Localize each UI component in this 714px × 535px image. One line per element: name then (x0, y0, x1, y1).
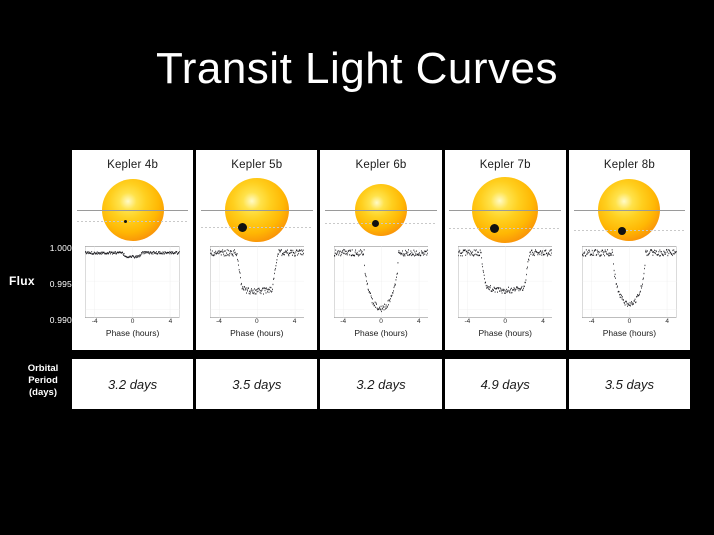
panel-title: Kepler 4b (72, 159, 193, 171)
phase-tick: 0 (628, 318, 632, 325)
star-transit-diagram (445, 177, 566, 243)
phase-axis-ticks: -404 (210, 318, 305, 328)
star-equator-line (449, 210, 561, 211)
phase-tick: 4 (169, 318, 173, 325)
panel-kepler-5b[interactable]: Kepler 5b-404Phase (hours) (196, 150, 317, 350)
orbital-period-cell: 3.5 days (196, 359, 317, 409)
light-curve-plot (85, 246, 180, 318)
panel-kepler-4b[interactable]: Kepler 4b-404Phase (hours) (72, 150, 193, 350)
orbital-period-value-row: 3.2 days3.5 days3.2 days4.9 days3.5 days (72, 359, 690, 409)
phase-tick: 0 (255, 318, 259, 325)
phase-axis-label: Phase (hours) (72, 328, 193, 338)
phase-tick: -4 (589, 318, 595, 325)
phase-tick: -4 (92, 318, 98, 325)
transit-chord-line (77, 221, 189, 222)
light-curve-plot (582, 246, 677, 318)
panel-title: Kepler 7b (445, 159, 566, 171)
transit-chord-line (449, 228, 561, 229)
star-equator-line (201, 210, 313, 211)
panel-title: Kepler 8b (569, 159, 690, 171)
light-curve-plot (210, 246, 305, 318)
phase-tick: -4 (216, 318, 222, 325)
transit-chord-line (201, 227, 313, 228)
slide-root: Transit Light Curves Flux 1.000 0.995 0.… (0, 0, 714, 535)
transit-chord-line (574, 230, 686, 231)
phase-axis-label: Phase (hours) (569, 328, 690, 338)
planet-disc (618, 227, 626, 235)
panel-kepler-8b[interactable]: Kepler 8b-404Phase (hours) (569, 150, 690, 350)
star-transit-diagram (569, 177, 690, 243)
star-transit-diagram (72, 177, 193, 243)
flux-tick-1000: 1.000 (30, 243, 72, 253)
phase-tick: 0 (379, 318, 383, 325)
orbital-period-cell: 3.5 days (569, 359, 690, 409)
orbital-period-label-line3: (days) (16, 387, 70, 399)
panel-kepler-7b[interactable]: Kepler 7b-404Phase (hours) (445, 150, 566, 350)
phase-axis-label: Phase (hours) (196, 328, 317, 338)
phase-axis-ticks: -404 (582, 318, 677, 328)
orbital-period-cell: 4.9 days (445, 359, 566, 409)
phase-tick: 4 (293, 318, 297, 325)
orbital-period-cell: 3.2 days (320, 359, 441, 409)
phase-tick: 4 (541, 318, 545, 325)
phase-tick: 4 (417, 318, 421, 325)
phase-axis-label: Phase (hours) (445, 328, 566, 338)
panel-title: Kepler 5b (196, 159, 317, 171)
star-equator-line (77, 210, 189, 211)
phase-tick: 0 (131, 318, 135, 325)
planet-disc (124, 220, 127, 223)
star-transit-diagram (196, 177, 317, 243)
star-equator-line (325, 210, 437, 211)
flux-tick-group: 1.000 0.995 0.990 (30, 243, 72, 328)
phase-axis-ticks: -404 (458, 318, 553, 328)
phase-axis-label: Phase (hours) (320, 328, 441, 338)
transit-chord-line (325, 223, 437, 224)
panel-title: Kepler 6b (320, 159, 441, 171)
page-title: Transit Light Curves (0, 44, 714, 94)
phase-axis-ticks: -404 (85, 318, 180, 328)
light-curve-plot (458, 246, 553, 318)
light-curve-plot (334, 246, 429, 318)
orbital-period-row-label: Orbital Period (days) (16, 363, 70, 399)
phase-axis-ticks: -404 (334, 318, 429, 328)
phase-tick: 0 (503, 318, 507, 325)
flux-tick-0990: 0.990 (30, 315, 72, 325)
phase-tick: 4 (665, 318, 669, 325)
orbital-period-label-line1: Orbital (16, 363, 70, 375)
flux-tick-0995: 0.995 (30, 279, 72, 289)
orbital-period-cell: 3.2 days (72, 359, 193, 409)
star-transit-diagram (320, 177, 441, 243)
phase-tick: -4 (340, 318, 346, 325)
panel-kepler-6b[interactable]: Kepler 6b-404Phase (hours) (320, 150, 441, 350)
phase-tick: -4 (465, 318, 471, 325)
light-curve-panel-row: Kepler 4b-404Phase (hours)Kepler 5b-404P… (72, 150, 690, 350)
orbital-period-label-line2: Period (16, 375, 70, 387)
star-equator-line (574, 210, 686, 211)
